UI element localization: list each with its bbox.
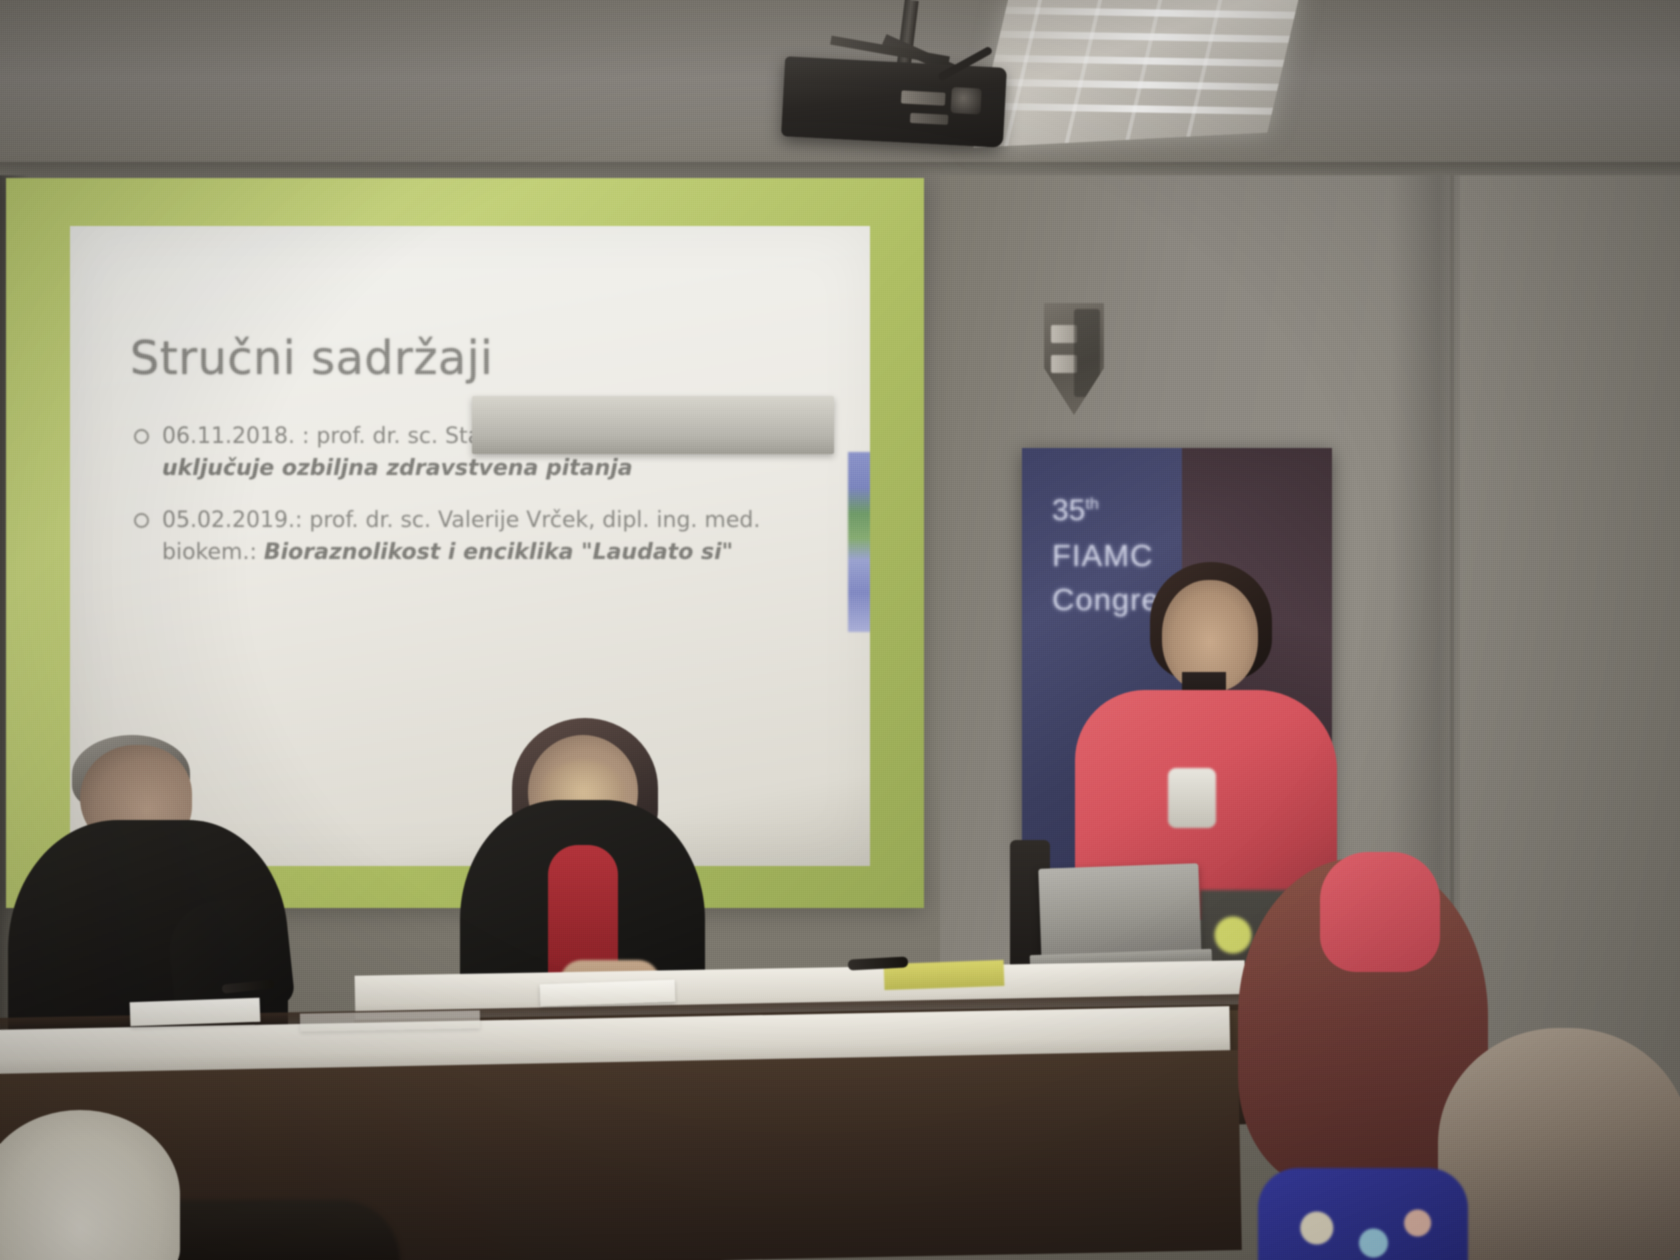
bullet-marker-icon [134,429,149,444]
slide-bullet-item: 05.02.2019.: prof. dr. sc. Valerije Vrče… [132,505,832,569]
projection-screen-surface: Stručni sadržaji 06.11.2018. : prof. dr.… [70,226,870,866]
table-papers [130,998,261,1027]
standing-speaker-held-object [1168,768,1216,828]
bullet-marker-icon [134,513,149,528]
ceiling-edge [0,162,1680,176]
table-papers [540,980,676,1007]
bullet-date: 06.11.2018. [162,424,295,449]
bullet-separator: : [295,424,316,449]
slide-title: Stručni sadržaji [130,331,493,385]
screen-roller-valance [472,396,834,454]
ceiling-projector-icon [781,56,1007,148]
bullet-separator: : [295,508,309,533]
projector-vent-secondary [910,113,948,125]
audience-member-front-right-second [1438,1028,1680,1260]
projector-lens-icon [951,87,982,115]
fluorescent-light-panel-icon [973,0,1302,148]
banner-line-2: FIAMC [1052,538,1153,574]
slide-thumbnail-image [848,452,870,632]
banner-line-1: 35th [1052,494,1099,528]
presentation-slide: Stručni sadržaji 06.11.2018. : prof. dr.… [70,226,870,866]
table-papers [300,1010,480,1031]
bullet-date: 05.02.2019. [162,508,295,533]
conference-room-photograph: Stručni sadržaji 06.11.2018. : prof. dr.… [0,0,1680,1260]
audience-member-blue-garment [1258,1168,1468,1260]
projector-vent [901,90,946,105]
audience-member-front-right-scarf [1320,852,1440,972]
bullet-topic: Bioraznolikost i enciklika "Laudato si" [264,540,733,565]
